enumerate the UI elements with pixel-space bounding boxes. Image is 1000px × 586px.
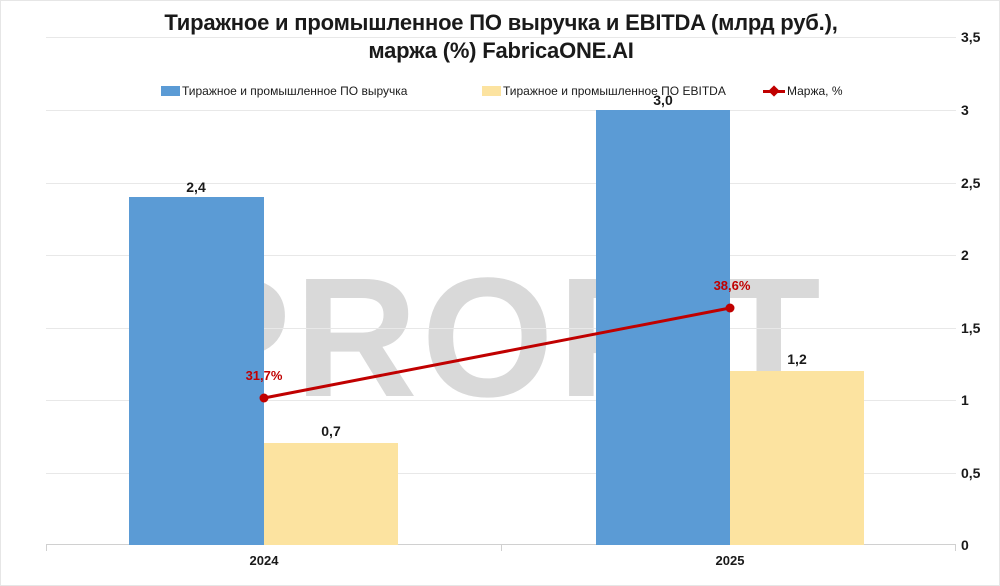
y-axis-label-1-5: 1,5 [961, 320, 997, 336]
margin-label-2025: 38,6% [714, 278, 751, 293]
y-axis-label-2-5: 2,5 [961, 175, 997, 191]
margin-label-2024: 31,7% [246, 368, 283, 383]
x-axis-tick-left [46, 545, 47, 551]
margin-point-marker-2024[interactable] [260, 394, 269, 403]
y-axis-label-3: 3 [961, 102, 997, 118]
y-axis-label-1: 1 [961, 392, 997, 408]
chart-title-line-1: Тиражное и промышленное ПО выручка и EBI… [164, 10, 837, 35]
margin-line-path [264, 308, 730, 398]
margin-point-marker-2025[interactable] [726, 304, 735, 313]
y-axis-label-0-5: 0,5 [961, 465, 997, 481]
x-axis-tick-mid [501, 545, 502, 551]
margin-line-series [46, 37, 956, 545]
y-axis-label-0: 0 [961, 537, 997, 553]
x-axis-label-2024: 2024 [250, 553, 279, 568]
x-axis-label-2025: 2025 [716, 553, 745, 568]
plot-area: 2,4 0,7 3,0 1,2 31,7% 38,6% 2024 2025 [46, 37, 956, 545]
y-axis-label-2: 2 [961, 247, 997, 263]
x-axis-tick-right [955, 545, 956, 551]
y-axis-label-3-5: 3,5 [961, 29, 997, 45]
chart-container: PROFIT Тиражное и промышленное ПО выручк… [0, 0, 1000, 586]
